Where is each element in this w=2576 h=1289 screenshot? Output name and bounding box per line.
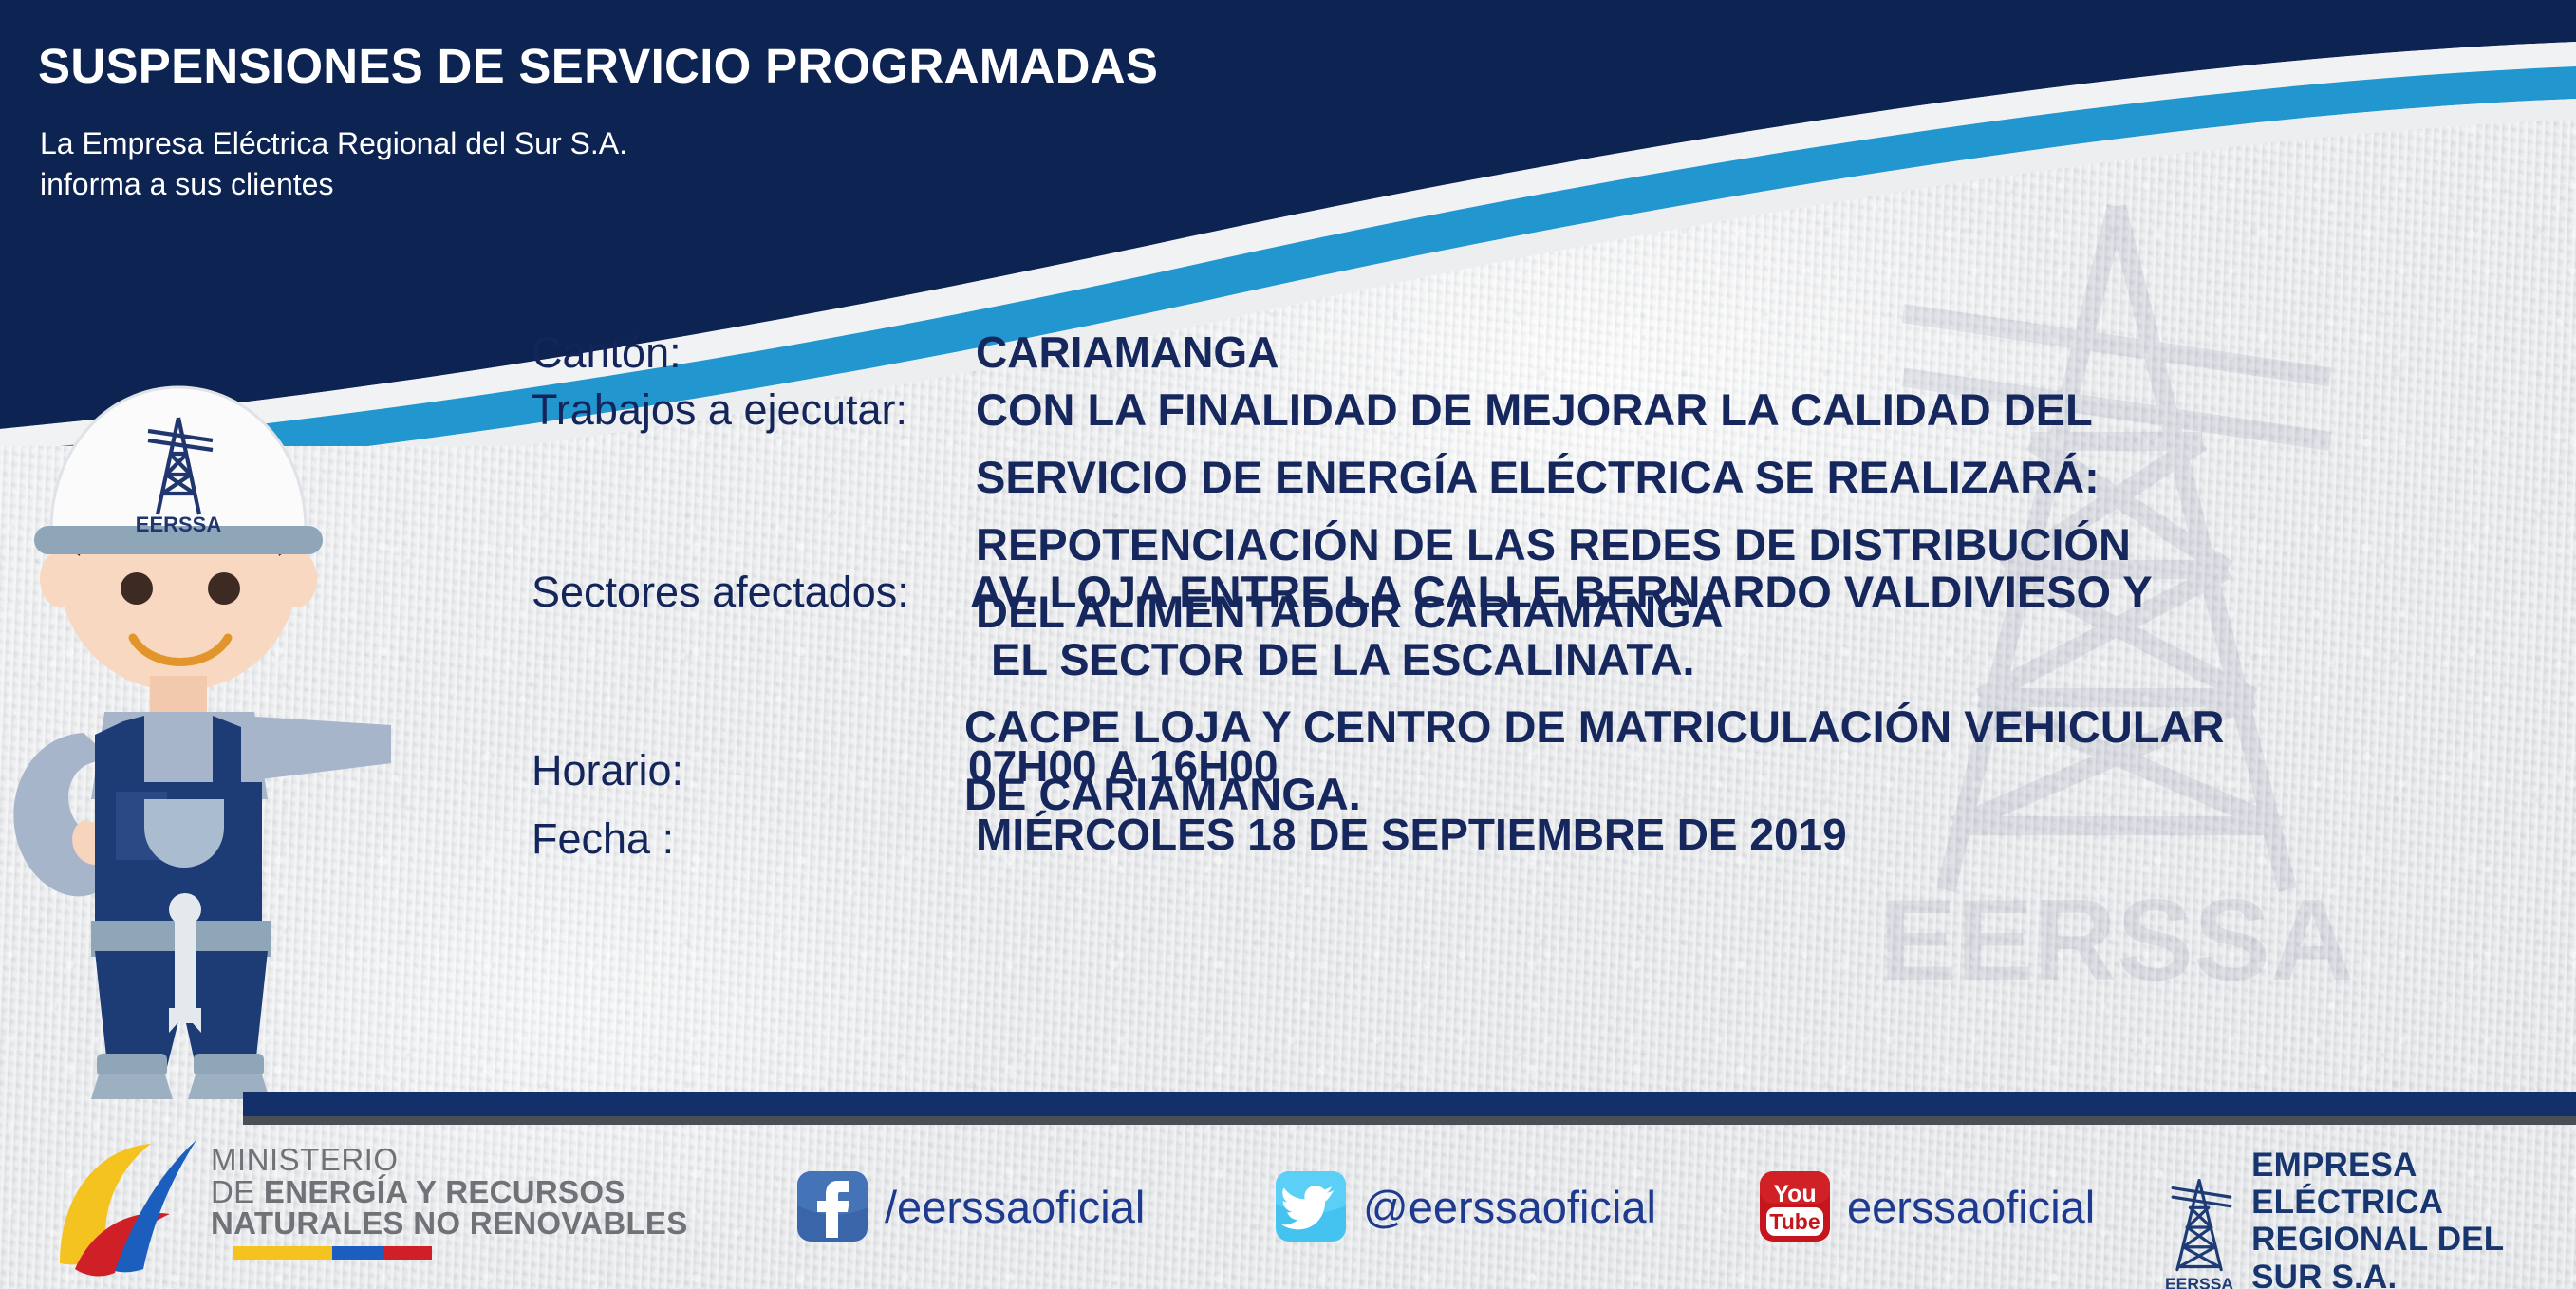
twitter-icon[interactable] xyxy=(1274,1169,1348,1243)
field-canton-label-wrap: Cantón: xyxy=(532,328,681,378)
ministry-wordmark: MINISTERIO DE ENERGÍA Y RECURSOS NATURAL… xyxy=(211,1144,688,1240)
ministry-line-3: NATURALES NO RENOVABLES xyxy=(211,1207,688,1240)
field-sectores-label-wrap: Sectores afectados: xyxy=(532,568,909,617)
field-canton-value-wrap: CARIAMANGA xyxy=(976,327,1279,378)
trabajos-label: Trabajos a ejecutar: xyxy=(532,385,907,435)
canton-value: CARIAMANGA xyxy=(976,327,1279,378)
top-accent-strip xyxy=(0,0,2576,17)
field-horario-value-wrap: 07H00 A 16H00 xyxy=(968,740,1278,792)
youtube-icon[interactable]: You Tube xyxy=(1758,1169,1832,1243)
field-fecha-value-wrap: MIÉRCOLES 18 DE SEPTIEMBRE DE 2019 xyxy=(976,809,1847,860)
trabajos-line-2: SERVICIO DE ENERGÍA ELÉCTRICA SE REALIZA… xyxy=(976,451,2131,503)
field-fecha-label-wrap: Fecha : xyxy=(532,814,674,864)
social-youtube[interactable]: You Tube eerssaoficial xyxy=(1758,1169,2095,1243)
ministry-line-2-plain: DE xyxy=(211,1174,264,1209)
facebook-handle[interactable]: /eerssaoficial xyxy=(885,1181,1145,1233)
ecuador-flag-bar xyxy=(233,1246,432,1260)
ministry-line-2-bold: ENERGÍA Y RECURSOS xyxy=(264,1174,625,1209)
header-subtitle-line2: informa a sus clientes xyxy=(40,164,627,205)
eerssa-mark-text: EERSSA xyxy=(2165,1274,2233,1289)
svg-text:You: You xyxy=(1773,1181,1816,1207)
sectores-line-1: AV. LOJA ENTRE LA CALLE BERNARDO VALDIVI… xyxy=(970,566,2224,618)
footer-divider-bar xyxy=(243,1092,2576,1116)
horario-value: 07H00 A 16H00 xyxy=(968,740,1278,792)
notice-details: Cantón: CARIAMANGA Trabajos a ejecutar: … xyxy=(0,302,2576,1090)
footer-divider-shadow xyxy=(243,1116,2576,1125)
field-horario-label-wrap: Horario: xyxy=(532,746,683,795)
flag-blue-band xyxy=(332,1246,383,1260)
eerssa-logo: EERSSA EMPRESA ELÉCTRICA REGIONAL DEL SU… xyxy=(2155,1131,2576,1289)
poster-root: EERSSA SUSPENSIONES DE SERVICIO PROGRAMA… xyxy=(0,0,2576,1289)
trabajos-line-3: REPOTENCIACIÓN DE LAS REDES DE DISTRIBUC… xyxy=(976,518,2131,570)
facebook-icon[interactable] xyxy=(795,1169,869,1243)
ministry-line-2: DE ENERGÍA Y RECURSOS xyxy=(211,1176,688,1208)
youtube-handle[interactable]: eerssaoficial xyxy=(1847,1181,2095,1233)
ministry-swoosh-icon xyxy=(52,1134,223,1277)
trabajos-line-1: CON LA FINALIDAD DE MEJORAR LA CALIDAD D… xyxy=(976,383,2131,436)
social-facebook[interactable]: /eerssaoficial xyxy=(795,1169,1145,1243)
field-trabajos-label-wrap: Trabajos a ejecutar: xyxy=(532,385,907,435)
flag-yellow-band xyxy=(233,1246,332,1260)
twitter-handle[interactable]: @eerssaoficial xyxy=(1363,1181,1656,1233)
company-line-2: REGIONAL DEL SUR S.A. xyxy=(2251,1221,2576,1289)
header-subtitle: La Empresa Eléctrica Regional del Sur S.… xyxy=(40,123,627,204)
company-line-1: EMPRESA ELÉCTRICA xyxy=(2251,1147,2576,1221)
sectores-label: Sectores afectados: xyxy=(532,568,909,617)
sectores-line-2: EL SECTOR DE LA ESCALINATA. xyxy=(991,633,2224,685)
social-twitter[interactable]: @eerssaoficial xyxy=(1274,1169,1656,1243)
page-title: SUSPENSIONES DE SERVICIO PROGRAMADAS xyxy=(38,38,1158,94)
svg-text:Tube: Tube xyxy=(1769,1209,1820,1234)
ministry-line-1: MINISTERIO xyxy=(211,1144,688,1176)
header-subtitle-line1: La Empresa Eléctrica Regional del Sur S.… xyxy=(40,123,627,164)
horario-label: Horario: xyxy=(532,746,683,795)
eerssa-wordmark: EMPRESA ELÉCTRICA REGIONAL DEL SUR S.A. … xyxy=(2251,1131,2576,1289)
canton-label: Cantón: xyxy=(532,328,681,378)
flag-red-band xyxy=(383,1246,433,1260)
eerssa-tower-icon: EERSSA xyxy=(2155,1159,2244,1289)
fecha-label: Fecha : xyxy=(532,814,674,864)
fecha-value: MIÉRCOLES 18 DE SEPTIEMBRE DE 2019 xyxy=(976,809,1847,860)
